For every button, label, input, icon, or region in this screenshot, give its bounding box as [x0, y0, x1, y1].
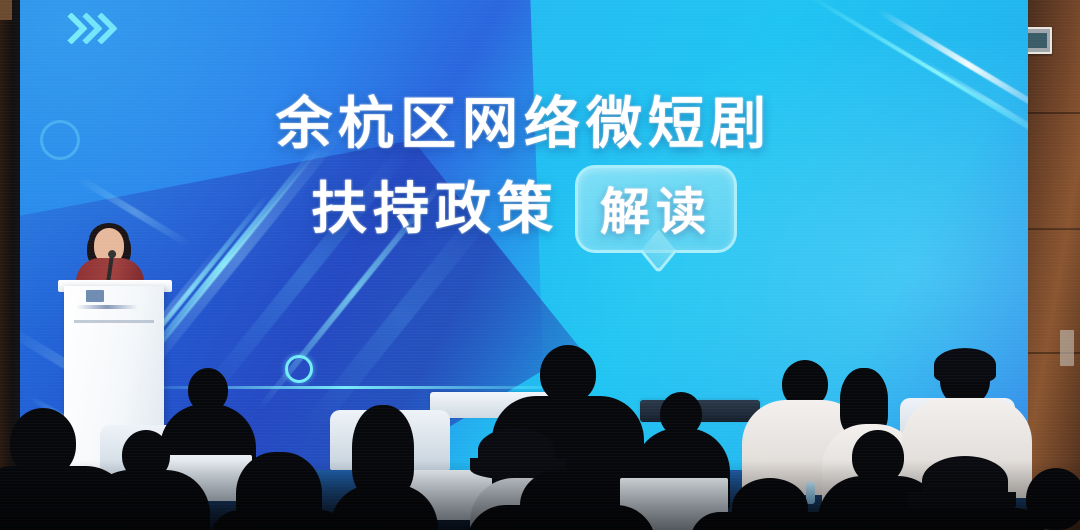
slide-title-line-2: 扶持政策	[311, 181, 559, 238]
title-highlight-bubble: 解读	[575, 165, 737, 253]
title-highlight-text: 解读	[600, 183, 712, 241]
conference-photo-scene: 余杭区网络微短剧 扶持政策 解读	[0, 0, 1080, 530]
podium-divider	[74, 320, 154, 323]
circle-outline-icon	[285, 355, 313, 383]
water-bottle	[806, 482, 815, 504]
organization-emblem	[86, 290, 104, 302]
left-wall-warm-top	[0, 0, 12, 20]
slide-title-line-1: 余杭区网络微短剧	[20, 96, 1028, 153]
podium-caption	[76, 305, 138, 309]
wall-plate	[1060, 330, 1074, 366]
